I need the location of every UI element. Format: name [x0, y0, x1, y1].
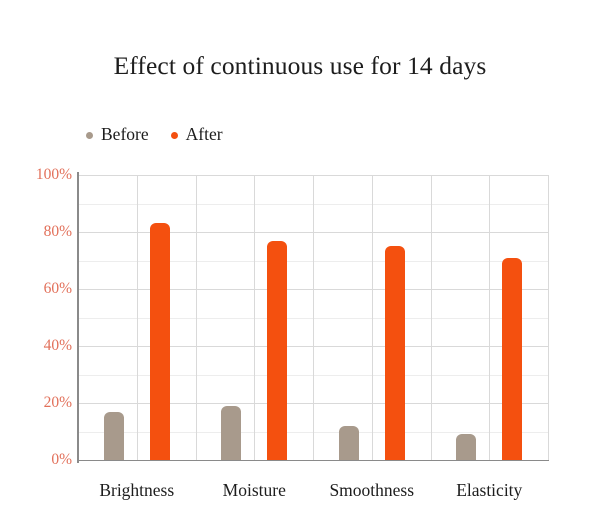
legend-swatch-after-icon: [171, 132, 178, 139]
chart-legend: Before After: [86, 125, 223, 145]
legend-item-after[interactable]: After: [171, 125, 223, 145]
gridline-vertical: [196, 175, 197, 460]
bar-smoothness-before[interactable]: [339, 426, 359, 460]
bar-chart: Effect of continuous use for 14 days Bef…: [0, 0, 600, 531]
x-axis-label-elasticity: Elasticity: [456, 482, 522, 500]
bar-moisture-after[interactable]: [267, 241, 287, 460]
legend-item-before[interactable]: Before: [86, 125, 149, 145]
y-axis-tick-label: 40%: [2, 338, 72, 354]
y-axis-tick-label: 80%: [2, 224, 72, 240]
x-axis-category-labels: BrightnessMoistureSmoothnessElasticity: [78, 482, 548, 512]
x-axis-label-smoothness: Smoothness: [329, 482, 414, 500]
gridline-vertical: [313, 175, 314, 460]
bar-smoothness-after[interactable]: [385, 246, 405, 460]
x-axis-label-brightness: Brightness: [99, 482, 174, 500]
bar-elasticity-before[interactable]: [456, 434, 476, 460]
chart-title: Effect of continuous use for 14 days: [0, 52, 600, 80]
bar-elasticity-after[interactable]: [502, 258, 522, 460]
y-axis-tick-label: 20%: [2, 395, 72, 411]
x-axis-label-moisture: Moisture: [223, 482, 286, 500]
y-axis-tick-label: 0%: [2, 452, 72, 468]
legend-label-after: After: [186, 126, 223, 144]
gridline-vertical: [137, 175, 138, 460]
y-axis-tick-label: 60%: [2, 281, 72, 297]
bar-brightness-before[interactable]: [104, 412, 124, 460]
y-axis-line: [77, 172, 79, 463]
legend-swatch-before-icon: [86, 132, 93, 139]
gridline-vertical: [254, 175, 255, 460]
y-axis-tick-labels: 0%20%40%60%80%100%: [0, 175, 72, 460]
bar-brightness-after[interactable]: [150, 223, 170, 460]
gridline-vertical: [431, 175, 432, 460]
gridline-vertical: [548, 175, 549, 460]
x-axis-line: [77, 460, 549, 461]
gridline-vertical: [372, 175, 373, 460]
legend-label-before: Before: [101, 126, 149, 144]
bar-moisture-before[interactable]: [221, 406, 241, 460]
gridline-vertical: [489, 175, 490, 460]
plot-area: [78, 175, 548, 460]
y-axis-tick-label: 100%: [2, 167, 72, 183]
